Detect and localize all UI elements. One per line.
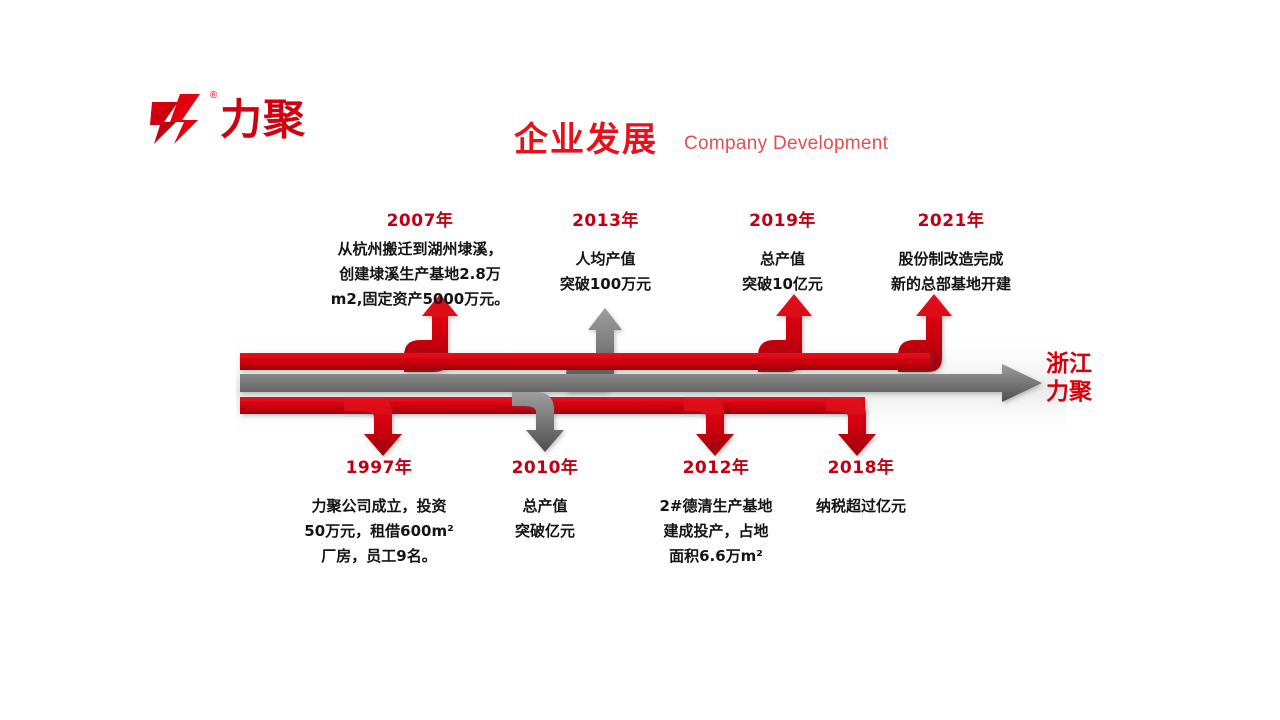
milestone-line: 建成投产，占地 [636, 519, 796, 544]
milestone-line: 股份制改造完成 [856, 247, 1046, 272]
timeline-end-label: 浙江 力聚 [1046, 350, 1116, 406]
milestone-line: 突破10亿元 [700, 272, 865, 297]
milestone-line: 突破亿元 [465, 519, 625, 544]
branch-arrow-2013 [566, 308, 622, 392]
milestone-year: 2012年 [636, 453, 796, 478]
milestone-line: 总产值 [465, 494, 625, 519]
milestone-line: 纳税超过亿元 [780, 494, 942, 519]
milestone-2010: 2010年 总产值 突破亿元 [465, 453, 625, 544]
milestone-2018: 2018年 纳税超过亿元 [780, 453, 942, 519]
milestone-year: 1997年 [268, 453, 490, 478]
milestone-year: 2021年 [856, 206, 1046, 231]
branch-arrow-2018 [826, 397, 876, 456]
milestone-line: 厂房，员工9名。 [268, 544, 490, 569]
end-label-line: 力聚 [1046, 378, 1116, 406]
lightning-bolt-logo-icon [148, 92, 210, 148]
slide-canvas: ® 力聚 企业发展 Company Development [0, 0, 1280, 720]
milestone-line: 创建埭溪生产基地2.8万 [310, 262, 530, 287]
milestone-line: 2#德清生产基地 [636, 494, 796, 519]
milestone-body: 从杭州搬迁到湖州埭溪， 创建埭溪生产基地2.8万 m2,固定资产5000万元。 [310, 237, 530, 312]
milestone-year: 2007年 [310, 206, 530, 231]
timeline-main-arrow-gray [240, 364, 1042, 402]
milestone-line: 人均产值 [523, 247, 688, 272]
milestone-2012: 2012年 2#德清生产基地 建成投产，占地 面积6.6万m² [636, 453, 796, 569]
milestone-2013: 2013年 人均产值 突破100万元 [523, 206, 688, 297]
registered-mark: ® [210, 90, 217, 101]
page-title: 企业发展 [514, 112, 658, 161]
milestone-line: 面积6.6万m² [636, 544, 796, 569]
page-subtitle: Company Development [684, 133, 888, 155]
logo-wordmark: 力聚 [220, 92, 306, 148]
milestone-line: 总产值 [700, 247, 865, 272]
milestone-year: 2013年 [523, 206, 688, 231]
milestone-body: 总产值 突破10亿元 [700, 247, 865, 297]
milestone-line: 力聚公司成立，投资 [268, 494, 490, 519]
branch-arrow-2019 [758, 294, 812, 372]
milestone-line: m2,固定资产5000万元。 [310, 287, 530, 312]
company-logo: ® 力聚 [148, 88, 388, 150]
end-label-line: 浙江 [1046, 350, 1116, 378]
milestone-body: 人均产值 突破100万元 [523, 247, 688, 297]
timeline-bar-upper-red [240, 353, 930, 370]
branch-arrow-1997 [344, 397, 402, 456]
milestone-2007: 2007年 从杭州搬迁到湖州埭溪， 创建埭溪生产基地2.8万 m2,固定资产50… [310, 206, 530, 312]
milestone-line: 突破100万元 [523, 272, 688, 297]
timeline-glow [236, 330, 1066, 440]
milestone-line: 50万元，租借600m² [268, 519, 490, 544]
milestone-1997: 1997年 力聚公司成立，投资 50万元，租借600m² 厂房，员工9名。 [268, 453, 490, 569]
branch-arrow-2021 [898, 294, 952, 372]
milestone-body: 总产值 突破亿元 [465, 494, 625, 544]
milestone-2021: 2021年 股份制改造完成 新的总部基地开建 [856, 206, 1046, 297]
timeline-bar-lower-red [240, 397, 865, 414]
branch-arrow-2010 [512, 392, 564, 452]
milestone-line: 从杭州搬迁到湖州埭溪， [310, 237, 530, 262]
milestone-2019: 2019年 总产值 突破10亿元 [700, 206, 865, 297]
milestone-year: 2019年 [700, 206, 865, 231]
milestone-body: 纳税超过亿元 [780, 494, 942, 519]
milestone-body: 2#德清生产基地 建成投产，占地 面积6.6万m² [636, 494, 796, 569]
milestone-year: 2010年 [465, 453, 625, 478]
milestone-body: 股份制改造完成 新的总部基地开建 [856, 247, 1046, 297]
milestone-body: 力聚公司成立，投资 50万元，租借600m² 厂房，员工9名。 [268, 494, 490, 569]
milestone-line: 新的总部基地开建 [856, 272, 1046, 297]
milestone-year: 2018年 [780, 453, 942, 478]
branch-arrow-2012 [684, 397, 734, 456]
